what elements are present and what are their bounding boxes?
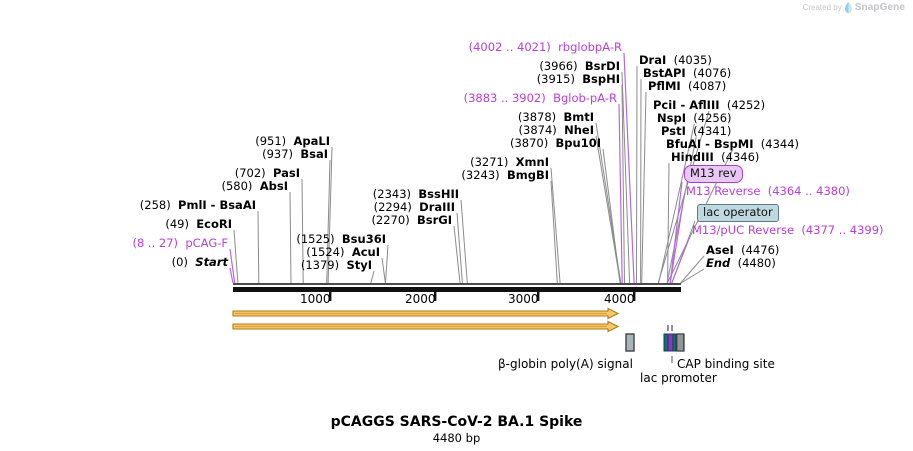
label-bpu10i-position: (3870)	[510, 136, 548, 150]
leader-line-label-pflmi	[642, 92, 646, 283]
label-rbglobpa-r-name: rbglobpA-R	[558, 40, 622, 54]
label-m13-puc-rev[interactable]: M13/pUC Reverse (4377 .. 4399)	[692, 224, 884, 237]
label-pcii-afliii-name: PciI - AflIII	[653, 98, 720, 112]
label-bglob-pa-r-name: Bglob-pA-R	[553, 91, 617, 105]
label-bsu36i-name: Bsu36I	[342, 232, 386, 246]
ruler-ticks-group	[329, 292, 635, 301]
label-bmti[interactable]: (3878) BmtI	[0, 111, 594, 124]
label-bmti-name: BmtI	[563, 110, 594, 124]
leader-line-label-nhei	[596, 136, 620, 283]
label-bmgbi-name: BmgBI	[507, 168, 549, 182]
label-nspi-name: NspI	[657, 111, 686, 125]
label-xmni-position: (3271)	[470, 155, 508, 169]
page-title: pCAGGS SARS-CoV-2 BA.1 Spike	[0, 414, 913, 430]
label-bmgbi-position: (3243)	[461, 168, 499, 182]
label-bsrgi-name: BsrGI	[417, 213, 452, 227]
leader-line-label-bsshii	[461, 200, 467, 283]
label-bsphi-position: (3915)	[537, 72, 575, 86]
leader-line-label-xmni	[551, 168, 560, 283]
label-nhei-name: NheI	[564, 123, 594, 137]
leader-line-label-draiii	[457, 213, 462, 283]
label-draiii[interactable]: (2294) DraIII	[0, 201, 455, 214]
label-styi-name: StyI	[346, 258, 372, 272]
caption-lac-promoter: lac promoter	[640, 371, 717, 385]
ruler-label-1000: 1000	[300, 292, 331, 306]
label-bmgbi[interactable]: (3243) BmgBI	[0, 169, 549, 182]
label-bsrdi-position: (3966)	[539, 59, 577, 73]
label-bfuai-bspmi-position: (4344)	[761, 137, 799, 151]
label-bmti-position: (3878)	[518, 110, 556, 124]
label-bsrgi-position: (2270)	[371, 213, 409, 227]
ruler-label-3000: 3000	[508, 292, 539, 306]
leader-line-label-drai	[637, 66, 638, 283]
label-bstapi-position: (4076)	[693, 66, 731, 80]
label-nhei-position: (3874)	[519, 123, 557, 137]
label-rbglobpa-r[interactable]: (4002 .. 4021) rbglobpA-R	[0, 41, 622, 54]
label-bpu10i[interactable]: (3870) Bpu10I	[0, 137, 601, 150]
label-m13-reverse-name: M13 Reverse	[686, 184, 760, 198]
label-hindiii-name: HindIII	[671, 150, 714, 164]
label-bstapi-name: BstAPI	[643, 66, 686, 80]
label-pflmi-position: (4087)	[688, 79, 726, 93]
leader-line-label-acui	[382, 258, 385, 283]
leader-line-label-asei	[681, 256, 704, 283]
label-rbglobpa-r-position: (4002 .. 4021)	[469, 40, 551, 54]
orf-arrow-lower[interactable]	[233, 322, 618, 332]
label-bsrdi[interactable]: (3966) BsrDI	[0, 60, 620, 73]
label-nhei[interactable]: (3874) NheI	[0, 124, 594, 137]
label-end-name: End	[706, 256, 730, 270]
label-hindiii[interactable]: HindIII (4346)	[671, 151, 759, 164]
label-bglob-pa-r[interactable]: (3883 .. 3902) Bglob-pA-R	[0, 92, 617, 105]
label-acui-position: (1524)	[306, 245, 344, 259]
label-nspi-position: (4256)	[693, 111, 731, 125]
label-pflmi[interactable]: PflMI (4087)	[648, 80, 726, 93]
label-xmni-name: XmnI	[516, 155, 549, 169]
leader-line-label-styi	[371, 271, 374, 283]
label-pcii-afliii-position: (4252)	[727, 98, 765, 112]
label-m13-reverse-position: (4364 .. 4380)	[768, 184, 850, 198]
ruler-label-2000: 2000	[405, 292, 436, 306]
label-end-position: (4480)	[738, 256, 776, 270]
label-bfuai-bspmi-name: BfuAI - BspMI	[666, 137, 753, 151]
plasmid-map-canvas: Created by SnapGene	[0, 0, 913, 451]
label-bsrgi[interactable]: (2270) BsrGI	[0, 214, 452, 227]
label-drai-name: DraI	[639, 53, 666, 67]
label-draiii-position: (2294)	[374, 200, 412, 214]
badge-lac-operator[interactable]: lac operator	[697, 204, 779, 222]
label-styi-position: (1379)	[301, 258, 339, 272]
badge-m13-rev[interactable]: M13 rev	[684, 165, 743, 183]
plasmid-length: 4480 bp	[0, 431, 913, 445]
caption-cap-binding-site: CAP binding site	[677, 357, 775, 371]
label-acui-name: AcuI	[352, 245, 380, 259]
label-psti-name: PstI	[661, 124, 686, 138]
label-m13-puc-rev-name: M13/pUC Reverse	[692, 223, 794, 237]
label-m13-puc-rev-position: (4377 .. 4399)	[801, 223, 883, 237]
label-styi[interactable]: (1379) StyI	[0, 259, 372, 272]
label-bpu10i-name: Bpu10I	[556, 136, 601, 150]
label-psti-position: (4341)	[693, 124, 731, 138]
label-bsrdi-name: BsrDI	[585, 59, 620, 73]
caption-beta-globin-polya: β-globin poly(A) signal	[498, 357, 633, 371]
label-draiii-name: DraIII	[419, 200, 455, 214]
plasmid-backbone	[233, 284, 681, 292]
label-bsu36i[interactable]: (1525) Bsu36I	[0, 233, 386, 246]
label-bsshii-name: BssHII	[418, 187, 459, 201]
label-bsphi-name: BspHI	[582, 72, 620, 86]
label-acui[interactable]: (1524) AcuI	[0, 246, 380, 259]
label-asei-name: AseI	[706, 243, 734, 257]
label-asei-position: (4476)	[741, 243, 779, 257]
label-bsu36i-position: (1525)	[296, 232, 334, 246]
label-end[interactable]: End (4480)	[706, 257, 776, 270]
beta-globin-polya-feature[interactable]	[626, 334, 634, 351]
label-bglob-pa-r-position: (3883 .. 3902)	[464, 91, 546, 105]
label-m13-reverse[interactable]: M13 Reverse (4364 .. 4380)	[686, 185, 850, 198]
leader-line-label-end	[681, 269, 704, 283]
ruler-label-4000: 4000	[604, 292, 635, 306]
label-drai-position: (4035)	[674, 53, 712, 67]
label-bsshii[interactable]: (2343) BssHII	[0, 188, 459, 201]
label-bsshii-position: (2343)	[373, 187, 411, 201]
label-bsphi[interactable]: (3915) BspHI	[0, 73, 620, 86]
leader-line-label-bglob-pa-r	[619, 104, 622, 283]
leader-line-label-hindiii	[668, 163, 669, 283]
label-xmni[interactable]: (3271) XmnI	[0, 156, 549, 169]
leader-line-badge-m13-rev	[670, 182, 682, 283]
orf-arrow-upper[interactable]	[233, 309, 618, 319]
leader-line-label-bsu36i	[386, 245, 389, 283]
label-pflmi-name: PflMI	[648, 79, 681, 93]
label-hindiii-position: (4346)	[721, 150, 759, 164]
